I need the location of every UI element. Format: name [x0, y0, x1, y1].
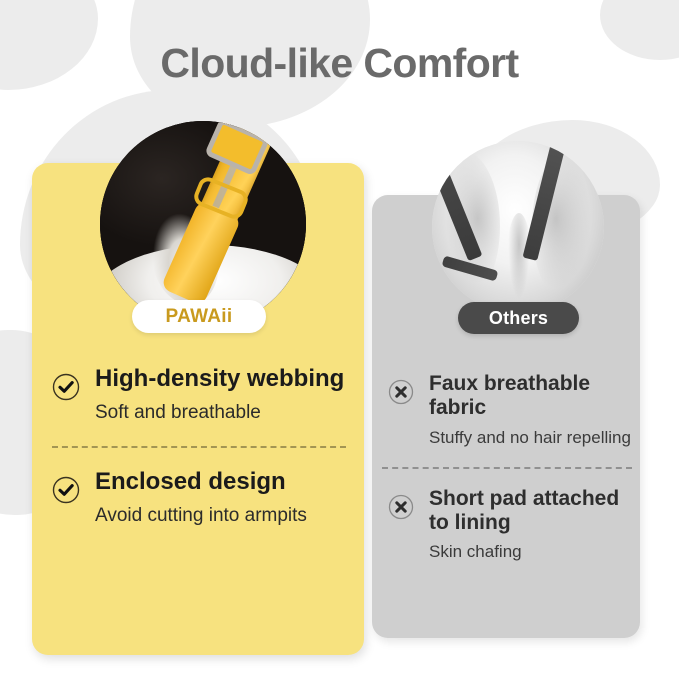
cross-icon [388, 494, 414, 520]
feature-title: Enclosed design [95, 469, 307, 496]
feature-subtitle: Avoid cutting into armpits [95, 505, 307, 528]
others-brand-pill: Others [458, 302, 579, 334]
pawaii-brand-label: PAWAii [166, 306, 233, 328]
feature-item: Faux breathable fabric Stuffy and no hai… [388, 372, 632, 449]
feature-title: Faux breathable fabric [429, 372, 632, 420]
feature-subtitle: Stuffy and no hair repelling [429, 428, 632, 449]
others-product-photo [432, 141, 604, 313]
page-title: Cloud-like Comfort [0, 40, 679, 87]
comparison-infographic: Cloud-like Comfort PAWAii High-density w… [0, 0, 679, 675]
check-icon [52, 373, 80, 401]
check-icon [52, 476, 80, 504]
feature-item: High-density webbing Soft and breathable [52, 366, 352, 425]
feature-title: Short pad attached to lining [429, 487, 632, 535]
pawaii-brand-pill: PAWAii [132, 300, 266, 333]
feature-text-block: Short pad attached to lining Skin chafin… [414, 487, 632, 564]
feature-divider [52, 446, 346, 448]
feature-divider [382, 467, 632, 469]
feature-subtitle: Soft and breathable [95, 402, 344, 425]
feature-text-block: Faux breathable fabric Stuffy and no hai… [414, 372, 632, 449]
feature-title: High-density webbing [95, 366, 344, 393]
leg-separation-shadow [506, 213, 532, 313]
feature-item: Short pad attached to lining Skin chafin… [388, 487, 632, 564]
feature-item: Enclosed design Avoid cutting into armpi… [52, 469, 352, 528]
others-brand-label: Others [489, 308, 548, 329]
pawaii-feature-list: High-density webbing Soft and breathable… [52, 366, 352, 527]
others-feature-list: Faux breathable fabric Stuffy and no hai… [388, 372, 632, 563]
cross-icon [388, 379, 414, 405]
pawaii-product-photo [100, 121, 306, 327]
feature-text-block: High-density webbing Soft and breathable [80, 366, 344, 425]
feature-text-block: Enclosed design Avoid cutting into armpi… [80, 469, 307, 528]
feature-subtitle: Skin chafing [429, 542, 632, 563]
